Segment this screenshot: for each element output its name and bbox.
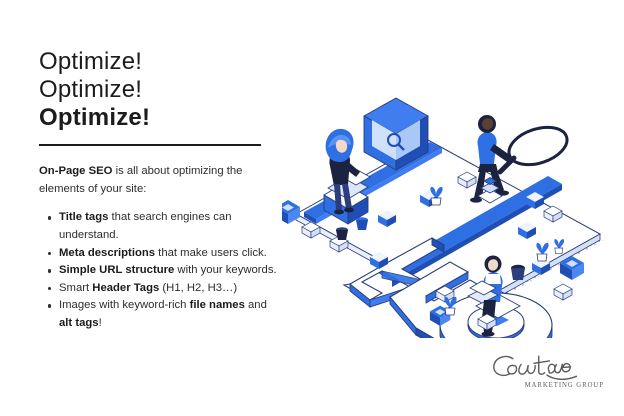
logo-script-mark: [494, 356, 577, 379]
slide-canvas: Optimize! Optimize! Optimize! On-Page SE…: [0, 0, 624, 416]
bullet-post: that make users click.: [155, 247, 267, 259]
list-item: Title tags that search engines can under…: [59, 209, 279, 244]
intro-paragraph: On-Page SEO is all about optimizing the …: [39, 163, 279, 198]
bullet-pre: Images with keyword-rich: [59, 299, 190, 311]
list-item: Simple URL structure with your keywords.: [59, 262, 279, 280]
headline-divider: [39, 144, 261, 146]
bullet-strong: Header Tags: [92, 282, 159, 294]
list-item: Images with keyword-rich file names and …: [59, 297, 279, 332]
isometric-seo-illustration: [282, 88, 618, 338]
bullet-strong: Meta descriptions: [59, 247, 155, 259]
intro-strong: On-Page SEO: [39, 165, 112, 177]
bullet-post-2: !: [99, 317, 102, 329]
list-item: Meta descriptions that make users click.: [59, 245, 279, 263]
bullet-strong: file names: [190, 299, 245, 311]
headline-line-3: Optimize!: [39, 104, 279, 132]
bullet-strong: Title tags: [59, 211, 108, 223]
bullet-post: with your keywords.: [174, 264, 276, 276]
headline-line-2: Optimize!: [39, 76, 279, 104]
bullet-strong-2: alt tags: [59, 317, 99, 329]
seo-bullet-list: Title tags that search engines can under…: [39, 209, 279, 332]
list-item: Smart Header Tags (H1, H2, H3…): [59, 280, 279, 298]
bullet-post: (H1, H2, H3…): [159, 282, 237, 294]
bullet-pre: Smart: [59, 282, 92, 294]
couture-marketing-group-logo: MARKETING GROUP: [487, 348, 607, 394]
person-presenter: [324, 129, 370, 224]
logo-subtitle: MARKETING GROUP: [525, 382, 604, 389]
bullet-strong: Simple URL structure: [59, 264, 174, 276]
text-column: Optimize! Optimize! Optimize! On-Page SE…: [39, 48, 279, 333]
headline-line-1: Optimize!: [39, 48, 279, 76]
bullet-post: and: [245, 299, 267, 311]
